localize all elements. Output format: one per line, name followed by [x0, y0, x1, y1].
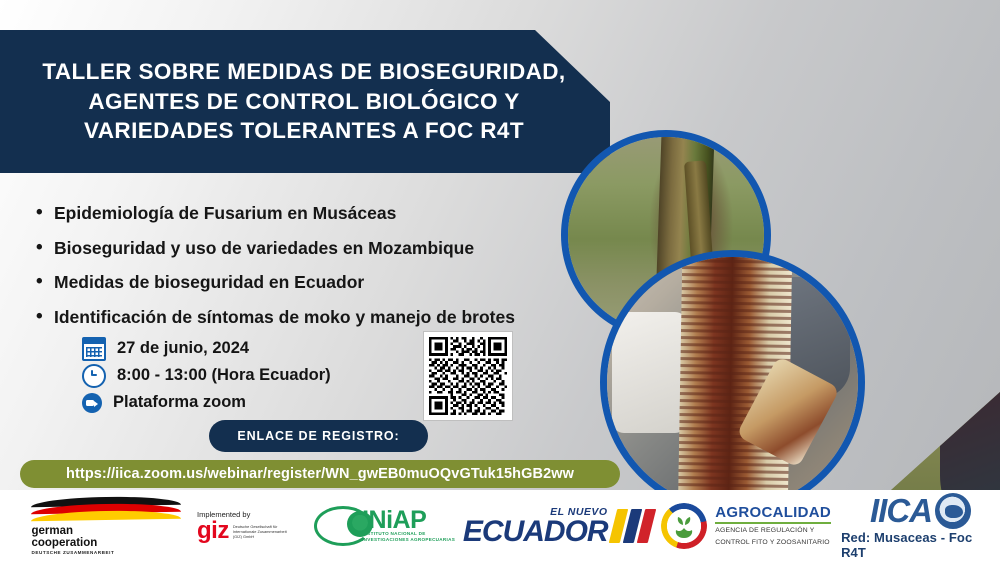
ecuador-flag-bars-icon — [613, 509, 655, 543]
person-silhouette — [940, 250, 1000, 500]
agrocalidad-subtitle-2: CONTROL FITO Y ZOOSANITARIO — [715, 539, 831, 548]
logo-el-nuevo-ecuador: EL NUEVO ECUADOR — [466, 495, 651, 557]
giz-wordmark: giz — [197, 521, 229, 541]
agrocalidad-leaf-icon — [669, 511, 699, 541]
webinar-poster: TALLER SOBRE MEDIDAS DE BIOSEGURIDAD, AG… — [0, 0, 1000, 562]
giz-legal-name: Deutsche Gesellschaft für Internationale… — [233, 525, 295, 540]
inset-photo-internal-symptoms — [600, 250, 865, 515]
banana-leaf — [851, 4, 1000, 150]
logo-agrocalidad: AGROCALIDAD AGENCIA DE REGULACIÓN Y CONT… — [651, 495, 841, 557]
iniap-subtitle-2: INVESTIGACIONES AGROPECUARIAS — [362, 537, 455, 543]
zoom-video-icon — [82, 393, 102, 413]
banana-stalk — [960, 160, 984, 410]
title-line-2: AGENTES DE CONTROL BIOLÓGICO Y — [24, 87, 584, 117]
iica-network-caption: Red: Musaceas - Foc R4T — [841, 530, 1000, 560]
list-item: Bioseguridad y uso de variedades en Moza… — [30, 240, 630, 258]
banana-leaf — [635, 6, 915, 144]
register-button[interactable]: ENLACE DE REGISTRO: — [209, 420, 428, 452]
topic-list: Epidemiología de Fusarium en Musáceas Bi… — [30, 205, 630, 343]
detail-date-text: 27 de junio, 2024 — [117, 339, 249, 358]
list-item: Epidemiología de Fusarium en Musáceas — [30, 205, 630, 223]
detail-time: 8:00 - 13:00 (Hora Ecuador) — [82, 363, 331, 388]
event-details: 27 de junio, 2024 8:00 - 13:00 (Hora Ecu… — [82, 336, 331, 417]
qr-code[interactable] — [424, 332, 512, 420]
iniap-wordmark: INiAP — [362, 509, 455, 532]
banana-leaf — [834, 141, 1000, 259]
detail-date: 27 de junio, 2024 — [82, 336, 331, 361]
ecuador-wordmark: ECUADOR — [463, 518, 608, 546]
title-banner: TALLER SOBRE MEDIDAS DE BIOSEGURIDAD, AG… — [0, 30, 610, 173]
list-item: Identificación de síntomas de moko y man… — [30, 309, 630, 327]
registration-link[interactable]: https://iica.zoom.us/webinar/register/WN… — [20, 460, 620, 488]
banana-leaf — [786, 83, 1000, 197]
detail-time-text: 8:00 - 13:00 (Hora Ecuador) — [117, 366, 331, 385]
banana-leaf — [682, 0, 997, 110]
iica-wordmark: IICA — [870, 496, 932, 526]
iica-globe-icon — [935, 493, 971, 529]
logo-german-cooperation: german cooperation DEUTSCHE ZUSAMMENARBE… — [0, 495, 197, 557]
agrocalidad-wordmark: AGROCALIDAD — [715, 505, 831, 524]
german-cooperation-text: german cooperation DEUTSCHE ZUSAMMENARBE… — [31, 525, 181, 556]
agrocalidad-subtitle-1: AGENCIA DE REGULACIÓN Y — [715, 527, 831, 536]
qr-code-icon — [429, 337, 507, 415]
iniap-seal-icon — [347, 511, 373, 537]
german-flag-wave-icon — [31, 497, 181, 523]
sponsor-footer: german cooperation DEUTSCHE ZUSAMMENARBE… — [0, 490, 1000, 562]
list-item: Medidas de bioseguridad en Ecuador — [30, 274, 630, 292]
banana-stalk — [900, 180, 926, 410]
logo-iica: IICA Red: Musaceas - Foc R4T — [841, 495, 1000, 557]
detail-platform: Plataforma zoom — [82, 390, 331, 415]
german-subtitle: DEUTSCHE ZUSAMMENARBEIT — [31, 551, 181, 556]
calendar-icon — [82, 337, 106, 361]
title-line-1: TALLER SOBRE MEDIDAS DE BIOSEGURIDAD, — [24, 57, 584, 87]
clock-icon — [82, 364, 106, 388]
logo-iniap: INiAP INSTITUTO NACIONAL DE INVESTIGACIO… — [303, 495, 466, 557]
title-line-3: VARIEDADES TOLERANTES A FOC R4T — [24, 116, 584, 146]
german-line-2: cooperation — [31, 537, 181, 549]
german-line-1: german — [31, 525, 181, 537]
iniap-oval-icon — [314, 506, 372, 546]
detail-platform-text: Plataforma zoom — [113, 393, 246, 412]
logo-giz: Implemented by giz Deutsche Gesellschaft… — [197, 495, 303, 557]
page-title: TALLER SOBRE MEDIDAS DE BIOSEGURIDAD, AG… — [24, 57, 584, 146]
